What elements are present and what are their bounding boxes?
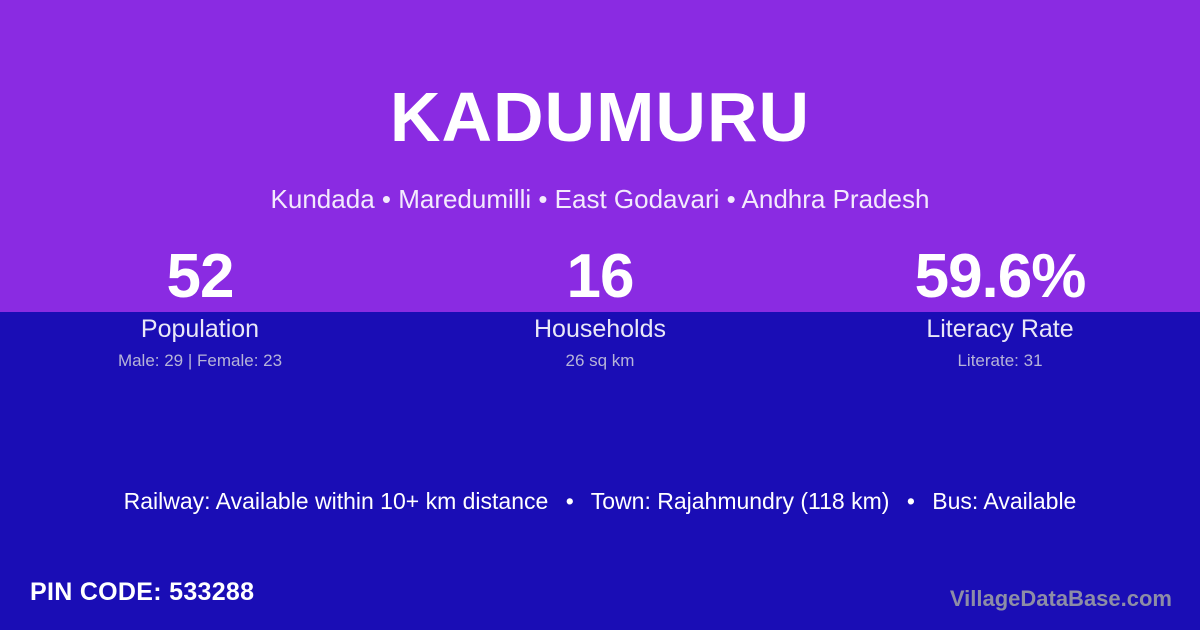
stat-population: 52 Population Male: 29 | Female: 23 — [0, 246, 400, 386]
stat-value: 52 — [0, 246, 400, 308]
infra-separator: • — [896, 487, 926, 515]
stat-sublabel: 26 sq km — [400, 351, 800, 371]
stat-value: 16 — [400, 246, 800, 308]
stat-label: Households — [400, 314, 800, 344]
stat-value: 59.6% — [800, 246, 1200, 308]
infra-bus: Bus: Available — [932, 488, 1076, 514]
breadcrumb: Kundada • Maredumilli • East Godavari • … — [0, 184, 1200, 215]
infra-town: Town: Rajahmundry (118 km) — [591, 488, 890, 514]
infra-separator: • — [555, 487, 585, 515]
stat-label: Literacy Rate — [800, 314, 1200, 344]
infra-railway: Railway: Available within 10+ km distanc… — [124, 488, 549, 514]
pin-code: PIN CODE: 533288 — [30, 577, 254, 607]
stat-sublabel: Male: 29 | Female: 23 — [0, 351, 400, 371]
stats-row: 52 Population Male: 29 | Female: 23 16 H… — [0, 246, 1200, 386]
stat-sublabel: Literate: 31 — [800, 351, 1200, 371]
village-info-card: KADUMURU Kundada • Maredumilli • East Go… — [0, 0, 1200, 630]
infrastructure-line: Railway: Available within 10+ km distanc… — [0, 487, 1200, 515]
stat-label: Population — [0, 314, 400, 344]
stat-literacy-rate: 59.6% Literacy Rate Literate: 31 — [800, 246, 1200, 386]
page-title: KADUMURU — [0, 82, 1200, 152]
stat-households: 16 Households 26 sq km — [400, 246, 800, 386]
site-branding: VillageDataBase.com — [950, 586, 1172, 612]
